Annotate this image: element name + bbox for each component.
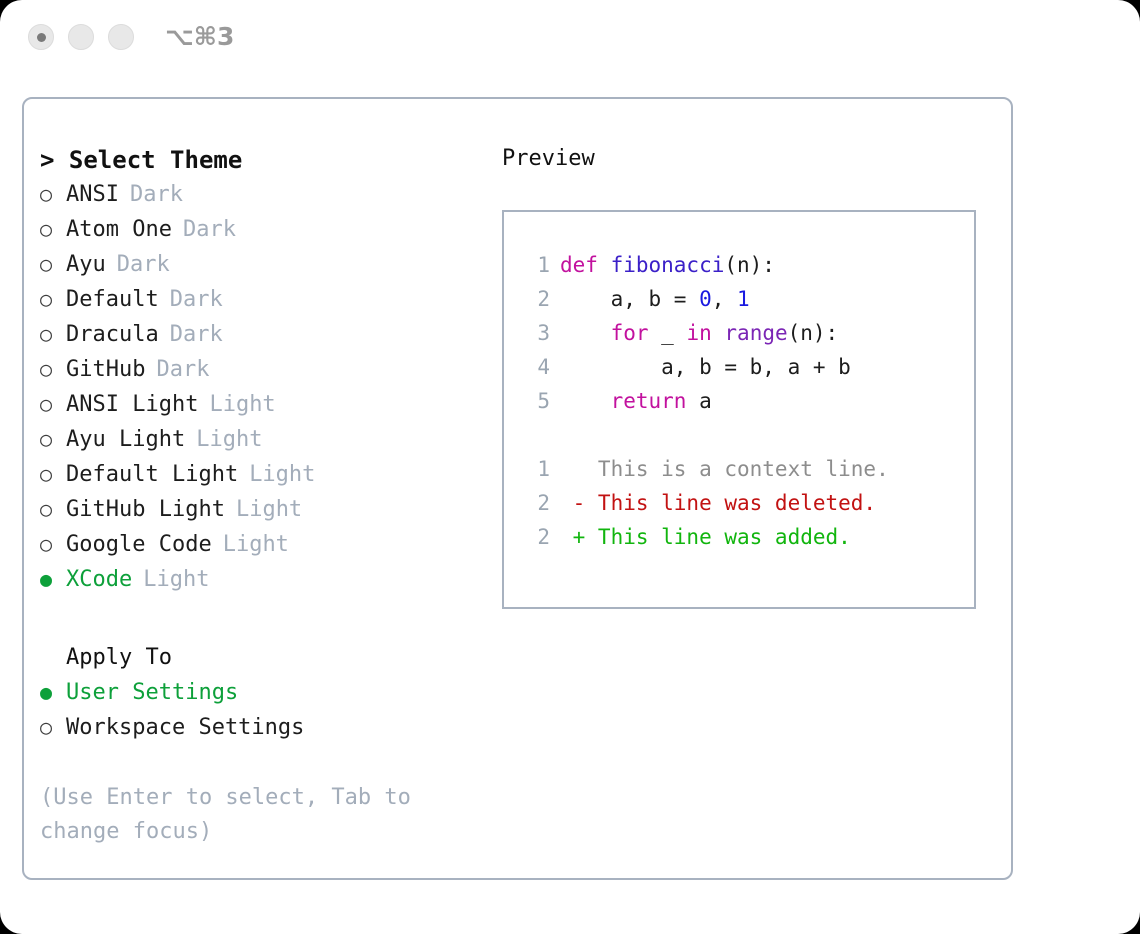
- theme-option-default[interactable]: ○DefaultDark: [40, 282, 480, 317]
- code-line-content: a, b = 0, 1: [560, 282, 750, 316]
- line-number: 1: [504, 248, 560, 282]
- keyboard-hint-text: (Use Enter to select, Tab to change focu…: [40, 781, 450, 849]
- diff-line-content: This is a context line.: [560, 452, 889, 486]
- diff-line-content: + This line was added.: [560, 520, 851, 554]
- theme-option-ansi[interactable]: ○ANSIDark: [40, 177, 480, 212]
- apply-to-title: Apply To: [40, 641, 480, 675]
- app-window: ⌥⌘3 > Select Theme ○ANSIDark○Atom OneDar…: [0, 0, 1140, 934]
- theme-option-label: Ayu Light: [66, 423, 185, 457]
- radio-unselected-icon: ○: [40, 352, 66, 386]
- diff-sample: 1 This is a context line.2 - This line w…: [504, 452, 974, 554]
- code-token-plain: _: [649, 321, 687, 345]
- theme-option-label: Atom One: [66, 213, 172, 247]
- theme-option-google-code[interactable]: ○Google CodeLight: [40, 527, 480, 562]
- theme-option-list: ○ANSIDark○Atom OneDark○AyuDark○DefaultDa…: [40, 177, 480, 597]
- theme-option-label: ANSI Light: [66, 388, 198, 422]
- theme-option-ansi-light[interactable]: ○ANSI LightLight: [40, 387, 480, 422]
- theme-option-label: Default: [66, 283, 159, 317]
- line-number: 5: [504, 384, 560, 418]
- keyboard-shortcut-label: ⌥⌘3: [165, 21, 234, 53]
- code-line: 2 a, b = 0, 1: [504, 282, 974, 316]
- code-line: 4 a, b = b, a + b: [504, 350, 974, 384]
- theme-option-atom-one[interactable]: ○Atom OneDark: [40, 212, 480, 247]
- code-line-content: a, b = b, a + b: [560, 350, 851, 384]
- page-title: > Select Theme: [40, 143, 480, 177]
- code-token-plain: [560, 321, 611, 345]
- code-spacer: [504, 418, 974, 452]
- line-number: 2: [504, 520, 560, 554]
- theme-variant-tag: Dark: [172, 213, 236, 247]
- code-line-content: return a: [560, 384, 712, 418]
- radio-unselected-icon: ○: [40, 457, 66, 491]
- line-number: 2: [504, 486, 560, 520]
- radio-unselected-icon: ○: [40, 282, 66, 316]
- code-token-plain: [712, 321, 725, 345]
- preview-heading: Preview: [502, 143, 1002, 175]
- line-number: 4: [504, 350, 560, 384]
- active-indicator-icon: [37, 33, 46, 42]
- theme-option-dracula[interactable]: ○DraculaDark: [40, 317, 480, 352]
- theme-variant-tag: Dark: [159, 283, 223, 317]
- window-controls: [28, 24, 134, 50]
- code-line: 3 for _ in range(n):: [504, 316, 974, 350]
- theme-selector-panel: > Select Theme ○ANSIDark○Atom OneDark○Ay…: [22, 97, 1013, 880]
- diff-line-add: 2 + This line was added.: [504, 520, 974, 554]
- theme-variant-tag: Light: [198, 388, 275, 422]
- radio-unselected-icon: ○: [40, 177, 66, 211]
- apply-option-label: Workspace Settings: [66, 711, 304, 745]
- theme-variant-tag: Dark: [145, 353, 209, 387]
- theme-option-label: Google Code: [66, 528, 212, 562]
- theme-variant-tag: Light: [132, 563, 209, 597]
- code-line: 1def fibonacci(n):: [504, 248, 974, 282]
- code-token-fn: fibonacci: [611, 253, 725, 277]
- theme-variant-tag: Light: [225, 493, 302, 527]
- theme-variant-tag: Dark: [159, 318, 223, 352]
- theme-option-ayu[interactable]: ○AyuDark: [40, 247, 480, 282]
- code-sample: 1def fibonacci(n):2 a, b = 0, 13 for _ i…: [504, 248, 974, 418]
- code-token-kw: for: [611, 321, 649, 345]
- maximize-button[interactable]: [108, 24, 134, 50]
- code-token-plain: a, b = b, a + b: [560, 355, 851, 379]
- apply-option-workspace-settings[interactable]: ○Workspace Settings: [40, 710, 480, 745]
- close-button[interactable]: [28, 24, 54, 50]
- theme-option-github-light[interactable]: ○GitHub LightLight: [40, 492, 480, 527]
- radio-unselected-icon: ○: [40, 527, 66, 561]
- theme-option-label: GitHub Light: [66, 493, 225, 527]
- line-number: 3: [504, 316, 560, 350]
- code-token-num: 0: [699, 287, 712, 311]
- code-token-plain: (n):: [724, 253, 775, 277]
- radio-selected-icon: ●: [40, 675, 66, 709]
- theme-option-label: GitHub: [66, 353, 145, 387]
- preview-box: 1def fibonacci(n):2 a, b = 0, 13 for _ i…: [502, 210, 976, 609]
- code-token-plain: ,: [712, 287, 737, 311]
- radio-unselected-icon: ○: [40, 212, 66, 246]
- theme-variant-tag: Dark: [119, 178, 183, 212]
- code-token-plain: a: [686, 389, 711, 413]
- apply-to-group: Apply To ●User Settings○Workspace Settin…: [40, 641, 480, 745]
- theme-option-label: ANSI: [66, 178, 119, 212]
- code-line-content: def fibonacci(n):: [560, 248, 775, 282]
- radio-unselected-icon: ○: [40, 317, 66, 351]
- radio-selected-icon: ●: [40, 562, 66, 596]
- theme-option-label: Dracula: [66, 318, 159, 352]
- line-number: 1: [504, 452, 560, 486]
- theme-option-label: XCode: [66, 563, 132, 597]
- diff-line-context: 1 This is a context line.: [504, 452, 974, 486]
- radio-unselected-icon: ○: [40, 710, 66, 744]
- code-token-kw: return: [611, 389, 687, 413]
- apply-to-option-list: ●User Settings○Workspace Settings: [40, 675, 480, 745]
- theme-option-xcode[interactable]: ●XCodeLight: [40, 562, 480, 597]
- theme-variant-tag: Light: [185, 423, 262, 457]
- theme-option-label: Ayu: [66, 248, 106, 282]
- code-line-content: for _ in range(n):: [560, 316, 838, 350]
- code-token-plain: a, b =: [560, 287, 699, 311]
- radio-unselected-icon: ○: [40, 387, 66, 421]
- code-token-kw: def: [560, 253, 611, 277]
- theme-option-default-light[interactable]: ○Default LightLight: [40, 457, 480, 492]
- theme-variant-tag: Light: [212, 528, 289, 562]
- code-token-num: 1: [737, 287, 750, 311]
- diff-line-del: 2 - This line was deleted.: [504, 486, 974, 520]
- code-token-kw: in: [686, 321, 711, 345]
- radio-unselected-icon: ○: [40, 492, 66, 526]
- theme-option-github[interactable]: ○GitHubDark: [40, 352, 480, 387]
- diff-line-content: - This line was deleted.: [560, 486, 876, 520]
- code-token-plain: (n):: [788, 321, 839, 345]
- apply-option-label: User Settings: [66, 676, 238, 710]
- radio-unselected-icon: ○: [40, 422, 66, 456]
- line-number: 2: [504, 282, 560, 316]
- theme-picker-column: > Select Theme ○ANSIDark○Atom OneDark○Ay…: [40, 143, 480, 849]
- preview-column: Preview 1def fibonacci(n):2 a, b = 0, 13…: [502, 143, 1002, 609]
- code-line: 5 return a: [504, 384, 974, 418]
- theme-option-ayu-light[interactable]: ○Ayu LightLight: [40, 422, 480, 457]
- minimize-button[interactable]: [68, 24, 94, 50]
- radio-unselected-icon: ○: [40, 247, 66, 281]
- apply-option-user-settings[interactable]: ●User Settings: [40, 675, 480, 710]
- title-bar: ⌥⌘3: [0, 0, 1140, 78]
- theme-variant-tag: Dark: [106, 248, 170, 282]
- code-token-plain: [560, 389, 611, 413]
- theme-option-label: Default Light: [66, 458, 238, 492]
- theme-variant-tag: Light: [238, 458, 315, 492]
- code-token-call: range: [724, 321, 787, 345]
